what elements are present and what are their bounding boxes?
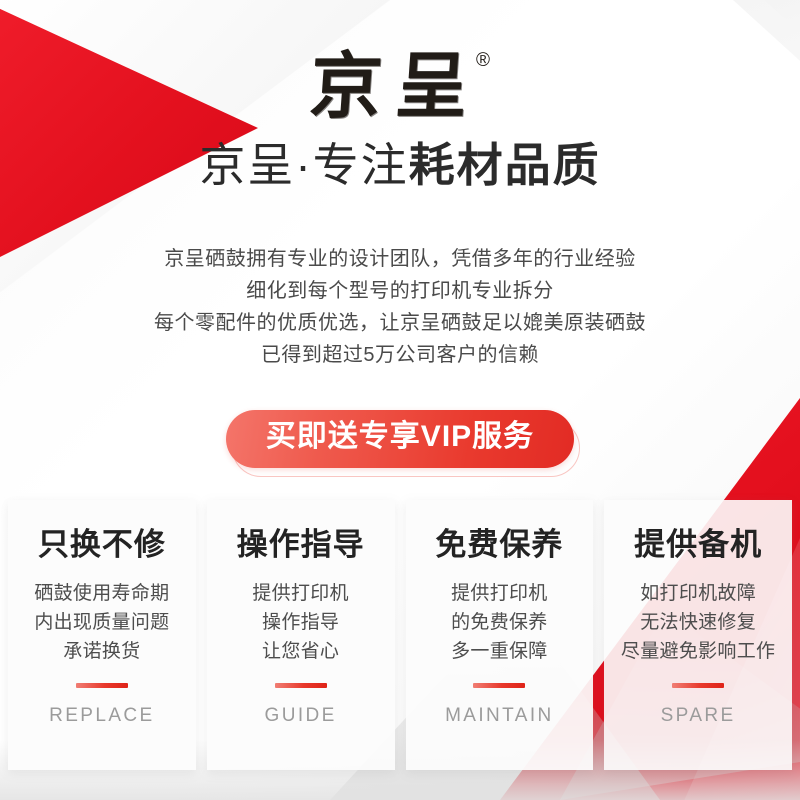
service-card-divider (672, 683, 724, 688)
promo-badge-area: 买即送专享VIP服务 (0, 404, 800, 474)
intro-line: 京呈硒鼓拥有专业的设计团队，凭借多年的行业经验 (0, 243, 800, 275)
service-card-spare[interactable]: 提供备机 如打印机故障 无法快速修复 尽量避免影响工作 SPARE (604, 500, 792, 770)
intro-paragraph: 京呈硒鼓拥有专业的设计团队，凭借多年的行业经验 细化到每个型号的打印机专业拆分 … (0, 243, 800, 371)
brand-logo-text: 京呈 (307, 50, 484, 122)
service-card-line: 操作指导 (252, 608, 349, 637)
service-card-en-label: GUIDE (265, 705, 337, 727)
service-card-title: 免费保养 (435, 528, 563, 562)
intro-line: 每个零配件的优质优选，让京呈硒鼓足以媲美原装硒鼓 (0, 307, 800, 339)
service-card-line: 让您省心 (252, 637, 349, 666)
promo-badge-label[interactable]: 买即送专享VIP服务 (226, 410, 574, 468)
service-card-line: 硒鼓使用寿命期 (34, 579, 169, 608)
service-card-body: 提供打印机 操作指导 让您省心 (252, 579, 349, 666)
page-title: 京呈·专注耗材品质 (0, 138, 800, 192)
service-card-list: 只换不修 硒鼓使用寿命期 内出现质量问题 承诺换货 REPLACE 操作指导 提… (8, 500, 792, 770)
intro-line: 细化到每个型号的打印机专业拆分 (0, 275, 800, 307)
service-card-line: 承诺换货 (34, 637, 169, 666)
service-card-body: 如打印机故障 无法快速修复 尽量避免影响工作 (621, 579, 775, 666)
service-card-line: 多一重保障 (451, 637, 548, 666)
service-card-divider (76, 683, 128, 688)
service-card-en-label: SPARE (661, 705, 736, 727)
service-card-maintain[interactable]: 免费保养 提供打印机 的免费保养 多一重保障 MAINTAIN (406, 500, 594, 770)
service-card-body: 硒鼓使用寿命期 内出现质量问题 承诺换货 (34, 579, 169, 666)
service-card-body: 提供打印机 的免费保养 多一重保障 (451, 579, 548, 666)
service-card-line: 尽量避免影响工作 (621, 637, 775, 666)
promo-banner: 京呈 ® 京呈·专注耗材品质 京呈硒鼓拥有专业的设计团队，凭借多年的行业经验 细… (0, 0, 800, 800)
promo-badge[interactable]: 买即送专享VIP服务 (226, 410, 574, 468)
service-card-guide[interactable]: 操作指导 提供打印机 操作指导 让您省心 GUIDE (207, 500, 395, 770)
service-card-divider (275, 683, 327, 688)
page-title-heavy: 耗材品质 (409, 139, 601, 191)
service-card-en-label: MAINTAIN (445, 705, 554, 727)
service-card-line: 内出现质量问题 (34, 608, 169, 637)
service-card-title: 提供备机 (634, 528, 762, 562)
service-card-line: 提供打印机 (451, 579, 548, 608)
service-card-en-label: REPLACE (49, 705, 155, 727)
intro-line: 已得到超过5万公司客户的信赖 (0, 339, 800, 371)
service-card-line: 如打印机故障 (621, 579, 775, 608)
service-card-line: 的免费保养 (451, 608, 548, 637)
brand-logo: 京呈 ® (0, 22, 800, 122)
page-title-light: 京呈·专注 (199, 139, 408, 191)
service-card-line: 无法快速修复 (621, 608, 775, 637)
service-card-divider (473, 683, 525, 688)
service-card-replace[interactable]: 只换不修 硒鼓使用寿命期 内出现质量问题 承诺换货 REPLACE (8, 500, 196, 770)
service-card-title: 操作指导 (237, 528, 365, 562)
service-card-line: 提供打印机 (252, 579, 349, 608)
service-card-title: 只换不修 (38, 528, 166, 562)
